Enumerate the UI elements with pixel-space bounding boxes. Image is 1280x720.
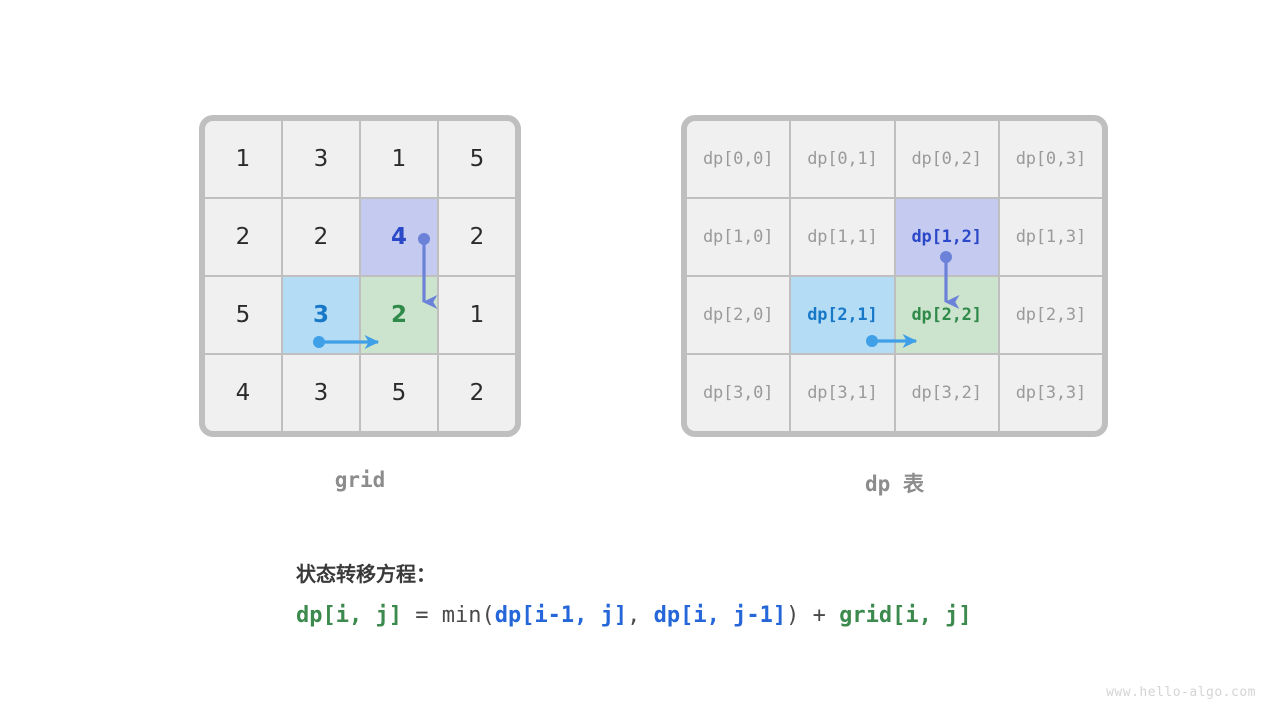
dp-cell-0-0: dp[0,0] (687, 121, 789, 197)
formula-token-3: dp[i-1, j] (495, 603, 627, 628)
dp-cell-3-1: dp[3,1] (791, 355, 893, 431)
grid-cell-1-1: 2 (283, 199, 359, 275)
grid-cell-1-0: 2 (205, 199, 281, 275)
grid-cell-2-3: 1 (439, 277, 515, 353)
dp-cell-2-1: dp[2,1] (791, 277, 893, 353)
formula-token-0: dp[i, j] (296, 603, 402, 628)
dp-cell-0-3: dp[0,3] (1000, 121, 1102, 197)
grid-table: 1315224253214352 (199, 115, 521, 437)
dp-cell-0-2: dp[0,2] (896, 121, 998, 197)
formula-token-4: , (627, 603, 654, 628)
grid-caption: grid (199, 468, 521, 492)
grid-cell-3-0: 4 (205, 355, 281, 431)
grid-cell-2-1: 3 (283, 277, 359, 353)
grid-cell-2-0: 5 (205, 277, 281, 353)
dp-cell-2-3: dp[2,3] (1000, 277, 1102, 353)
dp-table: dp[0,0]dp[0,1]dp[0,2]dp[0,3]dp[1,0]dp[1,… (681, 115, 1108, 437)
grid-cell-2-2: 2 (361, 277, 437, 353)
grid-cell-0-0: 1 (205, 121, 281, 197)
dp-cell-3-0: dp[3,0] (687, 355, 789, 431)
grid-cell-1-3: 2 (439, 199, 515, 275)
grid-cell-3-2: 5 (361, 355, 437, 431)
dp-cell-2-2: dp[2,2] (896, 277, 998, 353)
dp-caption: dp 表 (681, 468, 1108, 498)
grid-cell-0-1: 3 (283, 121, 359, 197)
grid-cell-1-2: 4 (361, 199, 437, 275)
formula-token-6: ) (786, 603, 799, 628)
dp-cell-3-3: dp[3,3] (1000, 355, 1102, 431)
dp-cell-1-1: dp[1,1] (791, 199, 893, 275)
formula-title: 状态转移方程： (296, 558, 1056, 587)
formula-equation: dp[i, j] = min(dp[i-1, j], dp[i, j-1]) +… (296, 603, 1056, 628)
formula-token-7: + (799, 603, 839, 628)
dp-cell-0-1: dp[0,1] (791, 121, 893, 197)
dp-cell-1-3: dp[1,3] (1000, 199, 1102, 275)
grid-cell-0-2: 1 (361, 121, 437, 197)
grid-cell-3-1: 3 (283, 355, 359, 431)
formula-token-1: = (402, 603, 442, 628)
formula-token-5: dp[i, j-1] (654, 603, 786, 628)
dp-cell-1-2: dp[1,2] (896, 199, 998, 275)
watermark: www.hello-algo.com (1106, 685, 1256, 700)
formula-token-2: min( (442, 603, 495, 628)
grid-cell-3-3: 2 (439, 355, 515, 431)
dp-cell-3-2: dp[3,2] (896, 355, 998, 431)
dp-cell-2-0: dp[2,0] (687, 277, 789, 353)
grid-cell-0-3: 5 (439, 121, 515, 197)
dp-cell-1-0: dp[1,0] (687, 199, 789, 275)
formula-token-8: grid[i, j] (839, 603, 971, 628)
state-transition-block: 状态转移方程： dp[i, j] = min(dp[i-1, j], dp[i,… (296, 558, 1056, 628)
